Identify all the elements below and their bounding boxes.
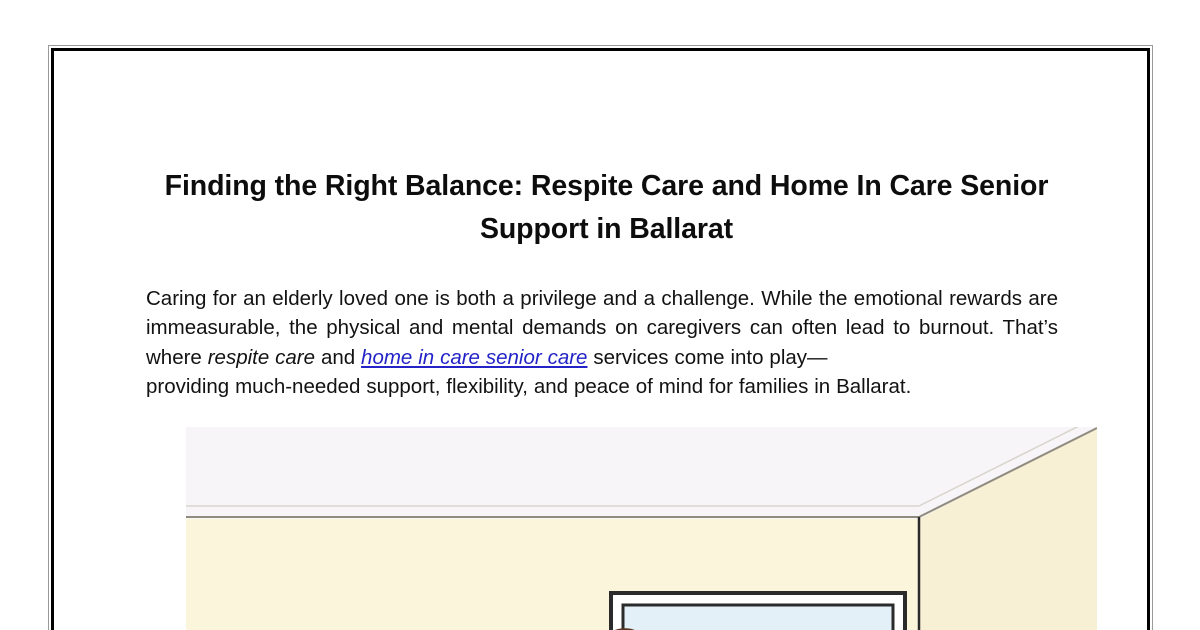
paragraph-text-segment-3: services come into play—	[587, 346, 827, 369]
intro-paragraph: Caring for an elderly loved one is both …	[146, 284, 1058, 402]
link-home-in-care-senior-care[interactable]: home in care senior care	[361, 346, 587, 369]
room-illustration-svg	[186, 427, 1097, 630]
paragraph-emphasis-respite-care: respite care	[208, 346, 315, 369]
document-viewer: Finding the Right Balance: Respite Care …	[0, 0, 1200, 630]
paragraph-text-segment-2: and	[315, 346, 361, 369]
page-title: Finding the Right Balance: Respite Care …	[144, 165, 1069, 251]
window-right	[611, 593, 905, 630]
article-illustration	[186, 427, 1097, 630]
document-page-content: Finding the Right Balance: Respite Care …	[54, 51, 1147, 630]
document-page: Finding the Right Balance: Respite Care …	[51, 48, 1150, 630]
page-title-line-1: Finding the Right Balance: Respite Care …	[165, 170, 953, 202]
paragraph-text-segment-4: providing much-needed support, flexibili…	[146, 372, 1058, 402]
window-right-glass	[623, 605, 893, 630]
document-page-outer-border: Finding the Right Balance: Respite Care …	[48, 45, 1153, 630]
